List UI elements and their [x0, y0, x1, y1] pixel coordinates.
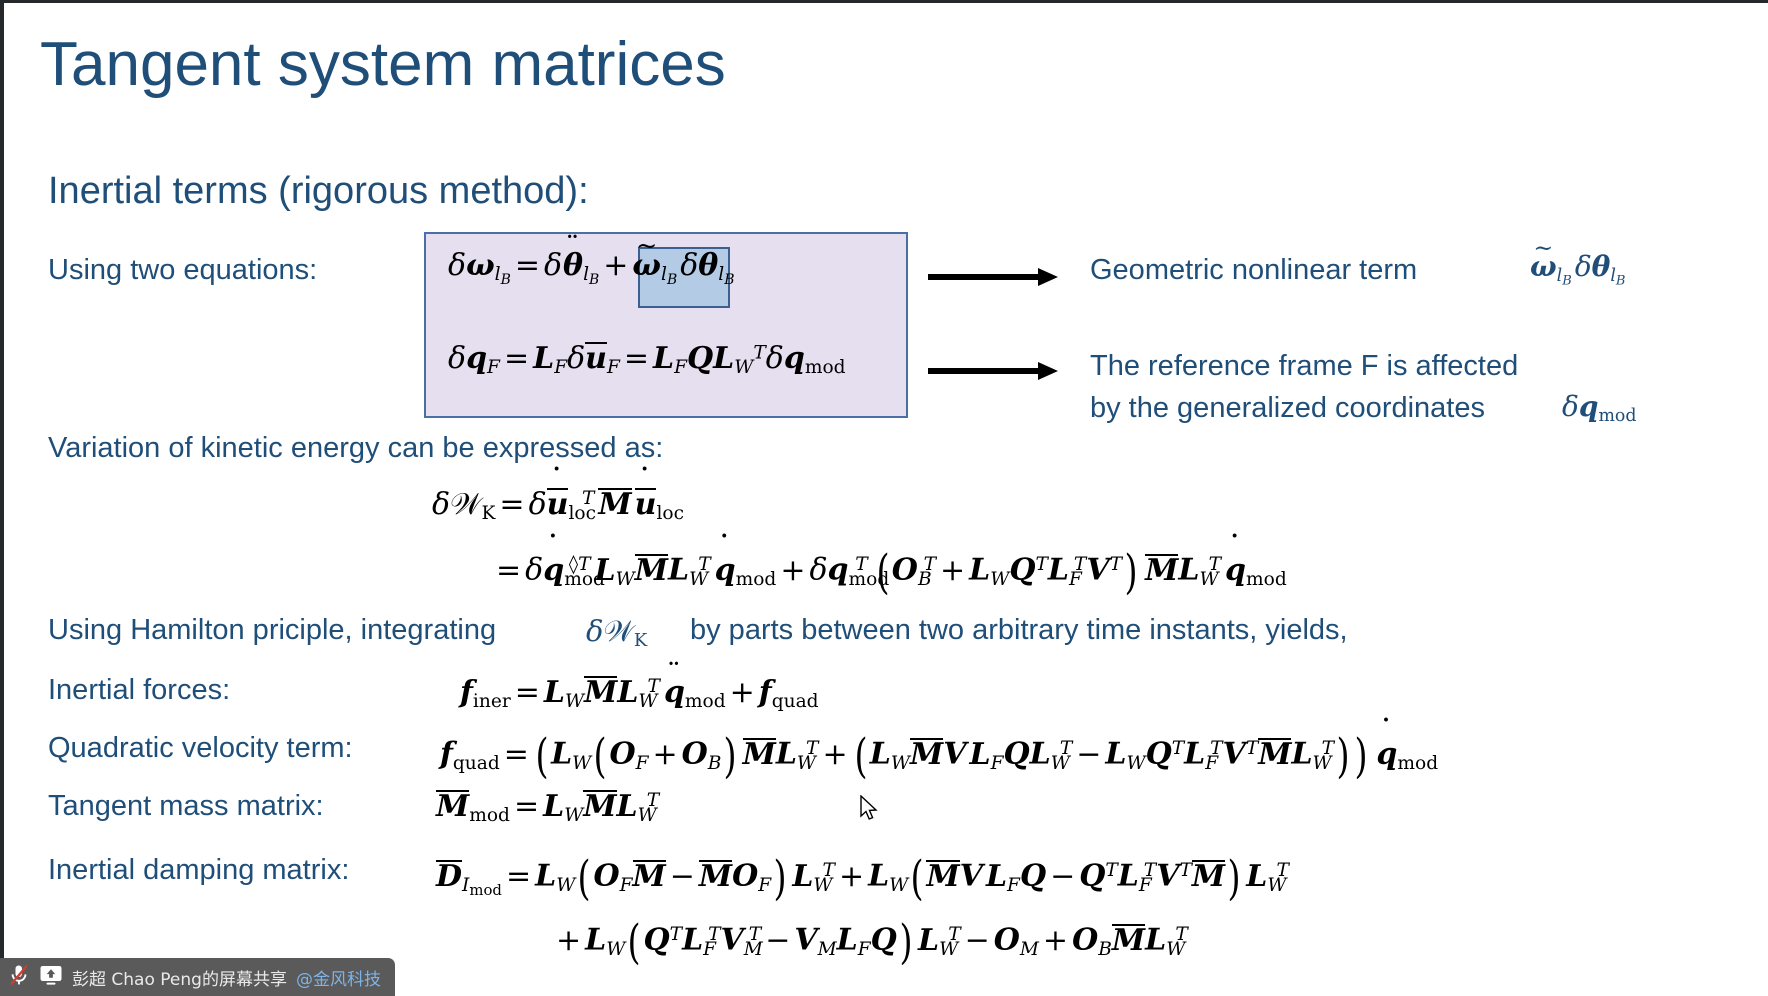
page-title: Tangent system matrices — [40, 28, 726, 102]
annotation-reference-frame-math: δqmod — [1562, 392, 1636, 421]
slide-canvas: Tangent system matrices Inertial terms (… — [0, 0, 1768, 996]
section-heading: Inertial terms (rigorous method): — [48, 168, 589, 214]
organization-label: @金风科技 — [296, 965, 381, 990]
label-tangent-mass-matrix: Tangent mass matrix: — [48, 788, 324, 824]
capture-edge-top — [0, 0, 1768, 3]
equation-kinetic-energy-line-1: δ𝒲K=δulocTMuloc — [432, 488, 684, 521]
mouse-cursor — [860, 795, 880, 828]
screen-share-icon[interactable] — [39, 964, 63, 991]
equation-box-line-1: δωlB=δθlB+ωlBδθlB — [448, 250, 734, 282]
annotation-geometric-nonlinear-math: ωlBδθlB — [1530, 252, 1626, 282]
screen-share-status-bar[interactable]: 彭超 Chao Peng的屏幕共享 @金风科技 — [0, 958, 395, 996]
equation-kinetic-energy-line-2: =δqmod◊TLWMLWTqmod+δqmodT(OBT+LWQTLFTVT)… — [492, 548, 1287, 597]
label-hamilton-before: Using Hamilton priciple, integrating — [48, 612, 496, 648]
equation-inertial-damping-line-2: +LW(QTLFTVMT−VMLFQ)LWT−OM+OBMLWT — [552, 918, 1188, 967]
presenter-share-label: 彭超 Chao Peng的屏幕共享 — [72, 965, 287, 990]
hamilton-math-symbol: δ𝒲K — [586, 616, 647, 646]
equation-quadratic-velocity: fquad=(LW(OF+OB)MLWT+(LWMVLFQLWT−LWQTLFT… — [440, 732, 1438, 781]
equation-tangent-mass-matrix: Mmod=LWMLWT — [436, 790, 659, 823]
label-inertial-forces: Inertial forces: — [48, 672, 230, 708]
capture-edge-left — [0, 0, 4, 996]
annotation-reference-frame-line2: by the generalized coordinates — [1090, 390, 1485, 426]
arrow-right-reference-frame — [928, 362, 1058, 380]
equation-inertial-forces: finer=LWMLWTqmod+fquad — [460, 676, 819, 709]
annotation-reference-frame-line1: The reference frame F is affected — [1090, 348, 1518, 384]
label-variation-kinetic-energy: Variation of kinetic energy can be expre… — [48, 430, 663, 466]
label-hamilton-after: by parts between two arbitrary time inst… — [690, 612, 1348, 648]
label-using-two-equations: Using two equations: — [48, 252, 317, 288]
equation-box: δωlB=δθlB+ωlBδθlB δqF=LFδuF=LFQLWTδqmod — [424, 232, 908, 418]
label-quadratic-velocity-term: Quadratic velocity term: — [48, 730, 353, 766]
microphone-muted-icon[interactable] — [8, 963, 30, 992]
arrow-right-geometric — [928, 268, 1058, 286]
equation-inertial-damping-line-1: DImod=LW(OFM−MOF)LWT+LW(MVLFQ−QTLFTVTM)L… — [436, 854, 1289, 903]
label-inertial-damping-matrix: Inertial damping matrix: — [48, 852, 349, 888]
annotation-geometric-nonlinear: Geometric nonlinear term — [1090, 252, 1417, 288]
equation-box-line-2: δqF=LFδuF=LFQLWTδqmod — [448, 342, 846, 375]
